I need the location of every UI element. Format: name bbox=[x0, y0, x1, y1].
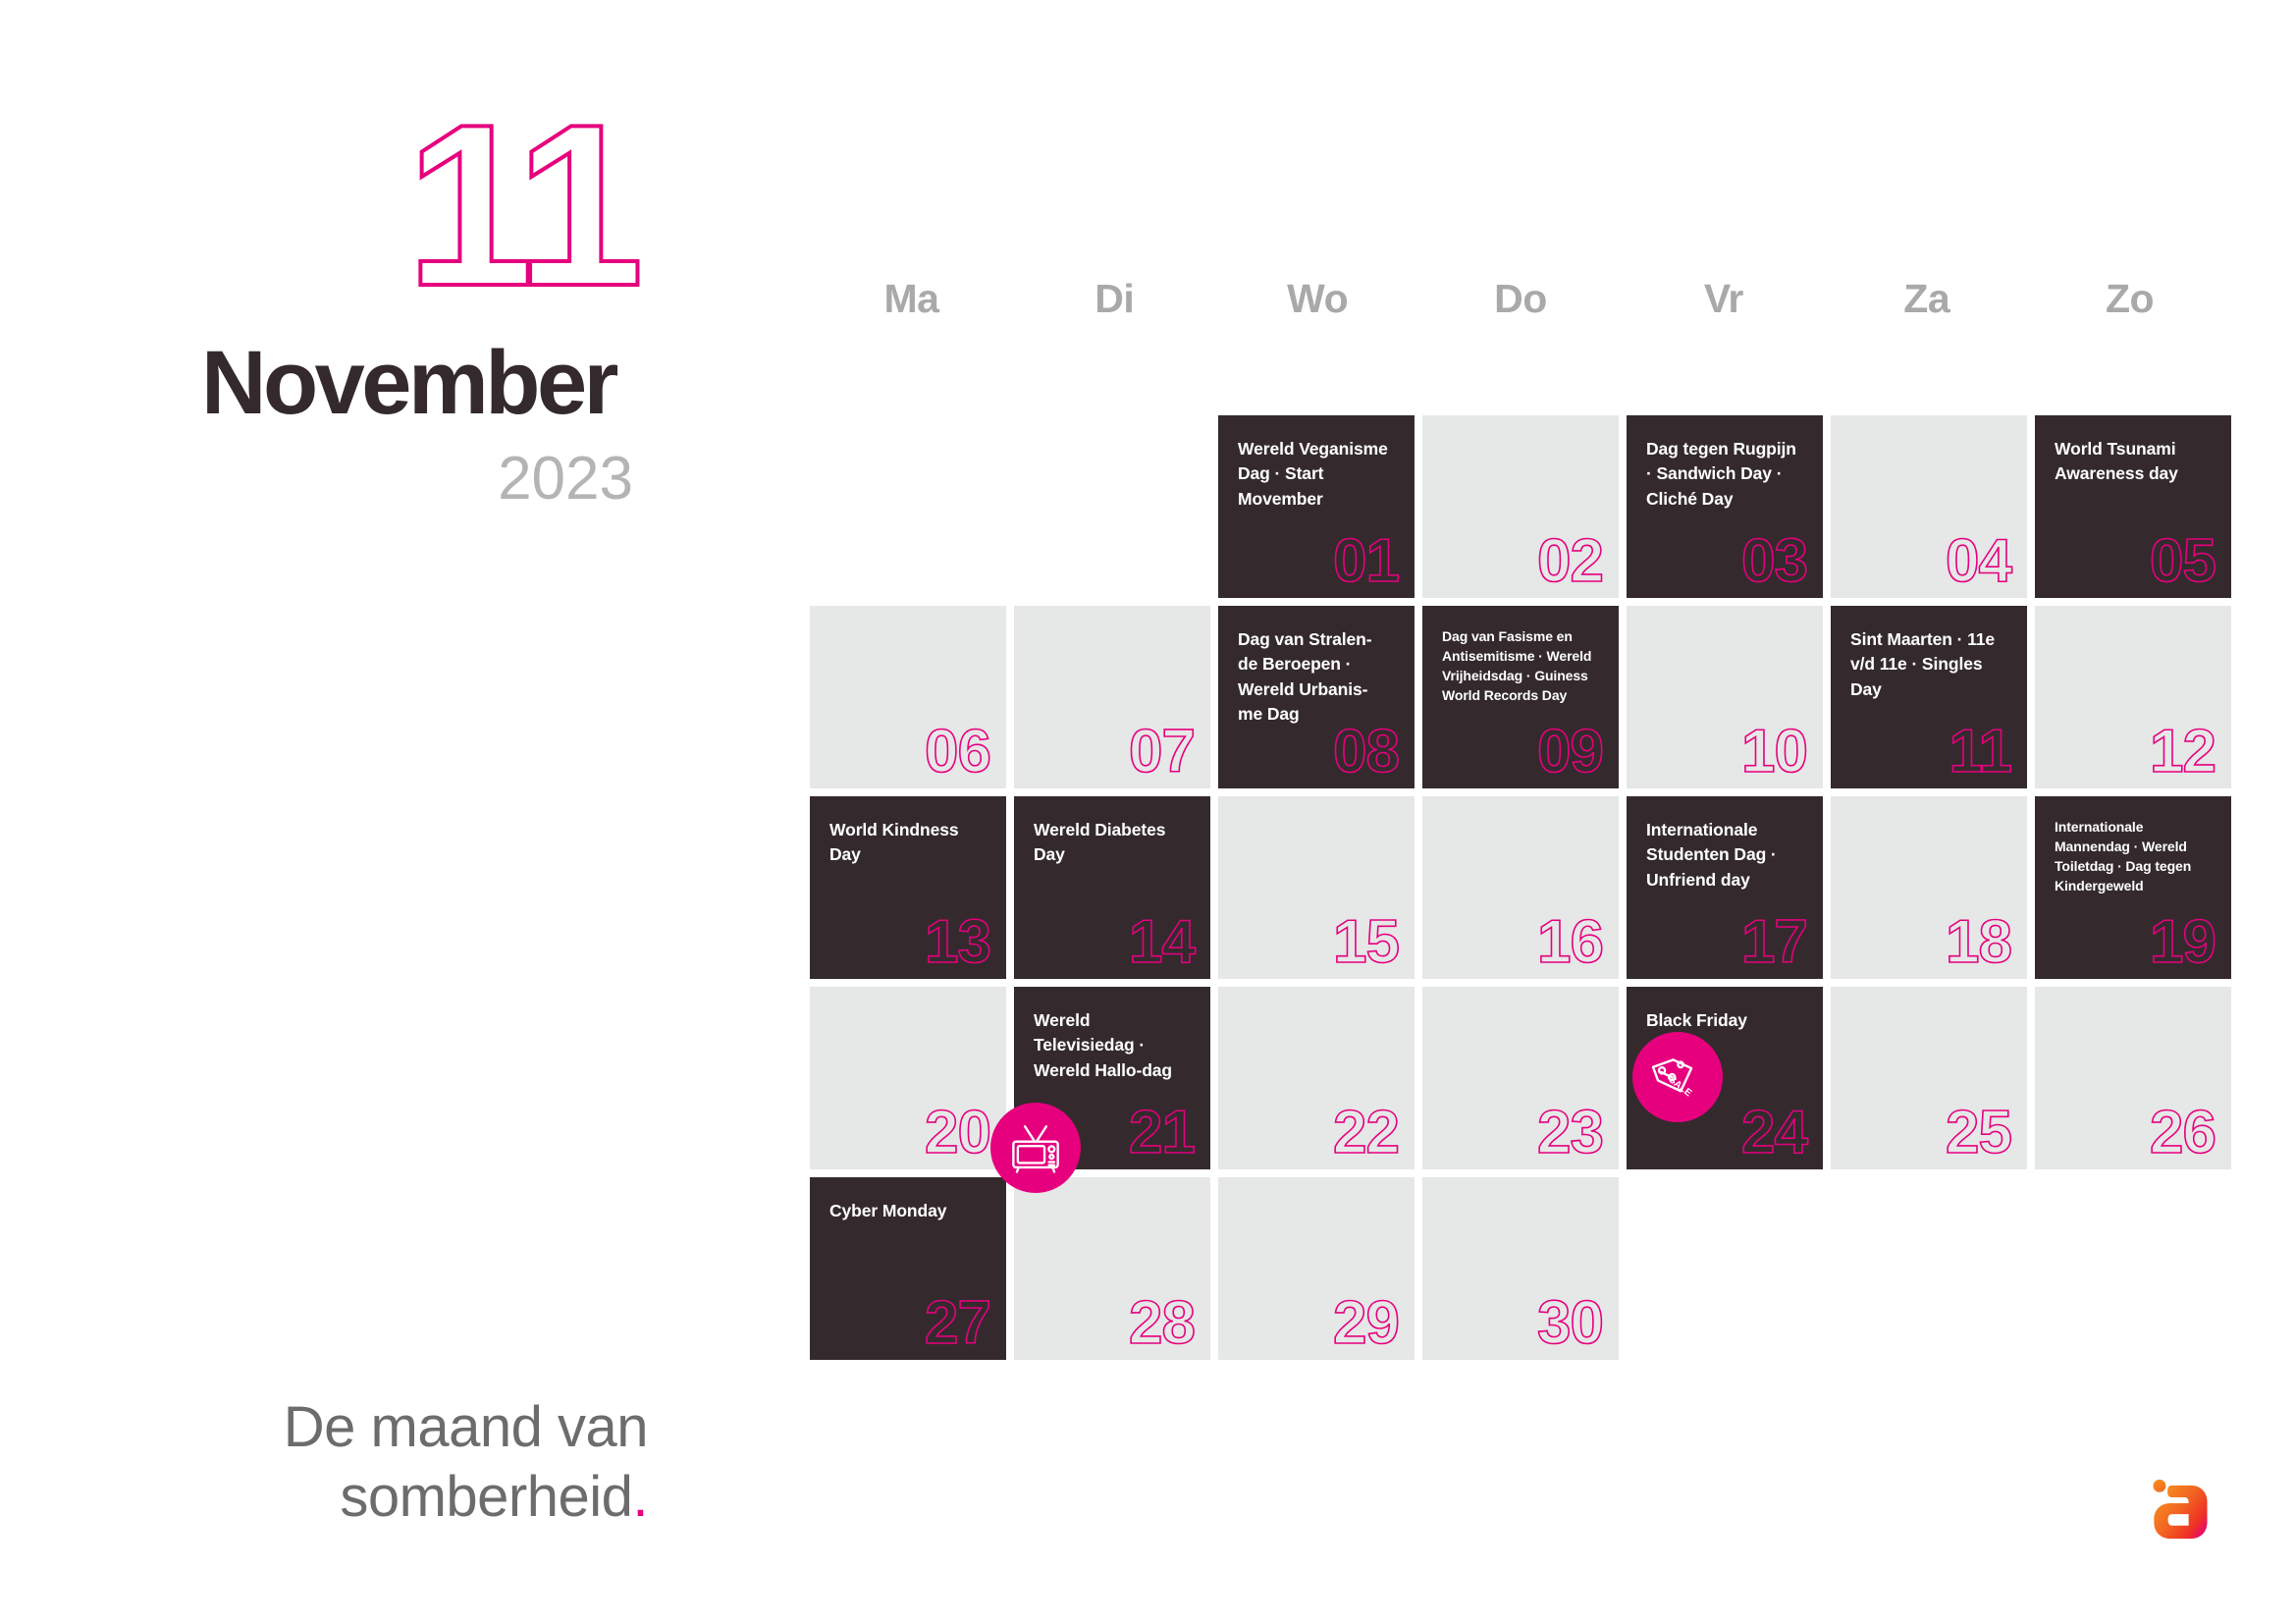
day-number: 01 bbox=[1333, 531, 1399, 592]
calendar-grid: Wereld Veganisme Dag · Start Movember010… bbox=[810, 415, 2231, 1360]
day-event-label: Internationale Mannendag · Wereld Toilet… bbox=[2055, 818, 2212, 896]
day-event-label: Sint Maarten · 11e v/d 11e · Singles Day bbox=[1850, 627, 2007, 702]
day-number: 27 bbox=[925, 1293, 990, 1354]
calendar-day-cell[interactable]: 23 bbox=[1422, 987, 1619, 1169]
tagline-line-2: somberheid bbox=[340, 1465, 632, 1529]
calendar-day-cell[interactable]: 25 bbox=[1831, 987, 2027, 1169]
day-number: 24 bbox=[1741, 1103, 1807, 1164]
month-name: November bbox=[201, 332, 615, 435]
day-event-label: Dag van Fasisme en Antisemitisme · Werel… bbox=[1442, 627, 1599, 706]
calendar-day-cell[interactable]: World Tsunami Awareness day05 bbox=[2035, 415, 2231, 598]
sale-tag-icon: SALE bbox=[1632, 1032, 1723, 1122]
weekday-label-di: Di bbox=[1013, 276, 1216, 322]
month-number: 11 bbox=[406, 106, 638, 304]
calendar-day-cell[interactable]: 20 bbox=[810, 987, 1006, 1169]
calendar-cell-empty bbox=[1627, 1177, 1823, 1360]
day-number: 08 bbox=[1333, 722, 1399, 783]
day-number: 29 bbox=[1333, 1293, 1399, 1354]
day-number: 22 bbox=[1333, 1103, 1399, 1164]
calendar-day-cell[interactable]: 12 bbox=[2035, 606, 2231, 788]
calendar-day-cell[interactable]: 06 bbox=[810, 606, 1006, 788]
day-number: 12 bbox=[2150, 722, 2216, 783]
calendar-day-cell[interactable]: Dag van Stralen- de Beroepen · Wereld Ur… bbox=[1218, 606, 1415, 788]
calendar-page: 11 November 2023 De maand van somberheid… bbox=[0, 0, 2296, 1624]
calendar-day-cell[interactable]: Cyber Monday27 bbox=[810, 1177, 1006, 1360]
weekday-label-ma: Ma bbox=[810, 276, 1013, 322]
day-number: 13 bbox=[925, 912, 990, 973]
calendar-day-cell[interactable]: 22 bbox=[1218, 987, 1415, 1169]
day-event-label: World Kindness Day bbox=[829, 818, 987, 868]
day-event-label: Dag van Stralen- de Beroepen · Wereld Ur… bbox=[1238, 627, 1395, 728]
day-number: 25 bbox=[1946, 1103, 2011, 1164]
day-number: 28 bbox=[1129, 1293, 1195, 1354]
calendar-day-cell[interactable]: 16 bbox=[1422, 796, 1619, 979]
day-number: 11 bbox=[1949, 722, 2011, 783]
calendar-day-cell[interactable]: Dag tegen Rugpijn · Sandwich Day · Clich… bbox=[1627, 415, 1823, 598]
tagline-period: . bbox=[632, 1465, 648, 1529]
calendar-cell-empty bbox=[1831, 1177, 2027, 1360]
day-number: 10 bbox=[1741, 722, 1807, 783]
day-event-label: Dag tegen Rugpijn · Sandwich Day · Clich… bbox=[1646, 437, 1803, 512]
calendar-day-cell[interactable]: Dag van Fasisme en Antisemitisme · Werel… bbox=[1422, 606, 1619, 788]
day-event-label: Wereld Veganisme Dag · Start Movember bbox=[1238, 437, 1395, 512]
calendar-day-cell[interactable]: 15 bbox=[1218, 796, 1415, 979]
calendar-day-cell[interactable]: Wereld Veganisme Dag · Start Movember01 bbox=[1218, 415, 1415, 598]
day-number: 03 bbox=[1741, 531, 1807, 592]
tv-icon bbox=[990, 1103, 1081, 1193]
calendar-day-cell[interactable]: Sint Maarten · 11e v/d 11e · Singles Day… bbox=[1831, 606, 2027, 788]
day-event-label: Cyber Monday bbox=[829, 1199, 987, 1223]
day-number: 05 bbox=[2150, 531, 2216, 592]
day-number: 23 bbox=[1537, 1103, 1603, 1164]
day-number: 06 bbox=[925, 722, 990, 783]
day-event-label: Black Friday bbox=[1646, 1008, 1803, 1033]
calendar-day-cell[interactable]: 18 bbox=[1831, 796, 2027, 979]
calendar-day-cell[interactable]: 26 bbox=[2035, 987, 2231, 1169]
calendar-day-cell[interactable]: 10 bbox=[1627, 606, 1823, 788]
day-number: 16 bbox=[1537, 912, 1603, 973]
day-number: 20 bbox=[925, 1103, 990, 1164]
day-number: 26 bbox=[2150, 1103, 2216, 1164]
calendar-cell-empty bbox=[1014, 415, 1210, 598]
calendar-cell-empty bbox=[2035, 1177, 2231, 1360]
day-number: 17 bbox=[1741, 912, 1807, 973]
day-event-label: Internationale Studenten Dag · Unfriend … bbox=[1646, 818, 1803, 893]
calendar-day-cell[interactable]: Wereld Televisiedag · Wereld Hallo-dag21 bbox=[1014, 987, 1210, 1169]
calendar-day-cell[interactable]: 30 bbox=[1422, 1177, 1619, 1360]
calendar-header-panel: 11 November 2023 De maand van somberheid… bbox=[0, 0, 785, 1624]
calendar-day-cell[interactable]: 04 bbox=[1831, 415, 2027, 598]
day-number: 30 bbox=[1537, 1293, 1603, 1354]
weekday-label-zo: Zo bbox=[2028, 276, 2231, 322]
weekday-label-vr: Vr bbox=[1622, 276, 1825, 322]
year-label: 2023 bbox=[201, 444, 633, 514]
day-number: 19 bbox=[2150, 912, 2216, 973]
calendar-cell-empty bbox=[810, 415, 1006, 598]
weekday-header-row: MaDiWoDoVrZaZo bbox=[810, 276, 2231, 322]
day-number: 07 bbox=[1129, 722, 1195, 783]
day-event-label: Wereld Televisiedag · Wereld Hallo-dag bbox=[1034, 1008, 1191, 1083]
day-number: 14 bbox=[1129, 912, 1195, 973]
day-number: 15 bbox=[1333, 912, 1399, 973]
calendar-day-cell[interactable]: 29 bbox=[1218, 1177, 1415, 1360]
calendar-day-cell[interactable]: Wereld Diabetes Day14 bbox=[1014, 796, 1210, 979]
weekday-label-za: Za bbox=[1825, 276, 2028, 322]
tagline: De maand van somberheid. bbox=[137, 1392, 648, 1533]
calendar-day-cell[interactable]: 02 bbox=[1422, 415, 1619, 598]
day-number: 02 bbox=[1537, 531, 1603, 592]
calendar-day-cell[interactable]: World Kindness Day13 bbox=[810, 796, 1006, 979]
calendar-day-cell[interactable]: Black FridaySALE24 bbox=[1627, 987, 1823, 1169]
day-event-label: World Tsunami Awareness day bbox=[2055, 437, 2212, 487]
calendar-day-cell[interactable]: Internationale Mannendag · Wereld Toilet… bbox=[2035, 796, 2231, 979]
weekday-label-do: Do bbox=[1419, 276, 1623, 322]
day-number: 21 bbox=[1129, 1103, 1195, 1164]
day-number: 18 bbox=[1946, 912, 2011, 973]
tagline-line-1: De maand van bbox=[284, 1395, 648, 1459]
brand-logo-icon bbox=[2138, 1467, 2222, 1551]
day-number: 09 bbox=[1537, 722, 1603, 783]
weekday-label-wo: Wo bbox=[1216, 276, 1419, 322]
day-event-label: Wereld Diabetes Day bbox=[1034, 818, 1191, 868]
calendar-day-cell[interactable]: 07 bbox=[1014, 606, 1210, 788]
calendar-day-cell[interactable]: Internationale Studenten Dag · Unfriend … bbox=[1627, 796, 1823, 979]
calendar-day-cell[interactable]: 28 bbox=[1014, 1177, 1210, 1360]
day-number: 04 bbox=[1946, 531, 2011, 592]
